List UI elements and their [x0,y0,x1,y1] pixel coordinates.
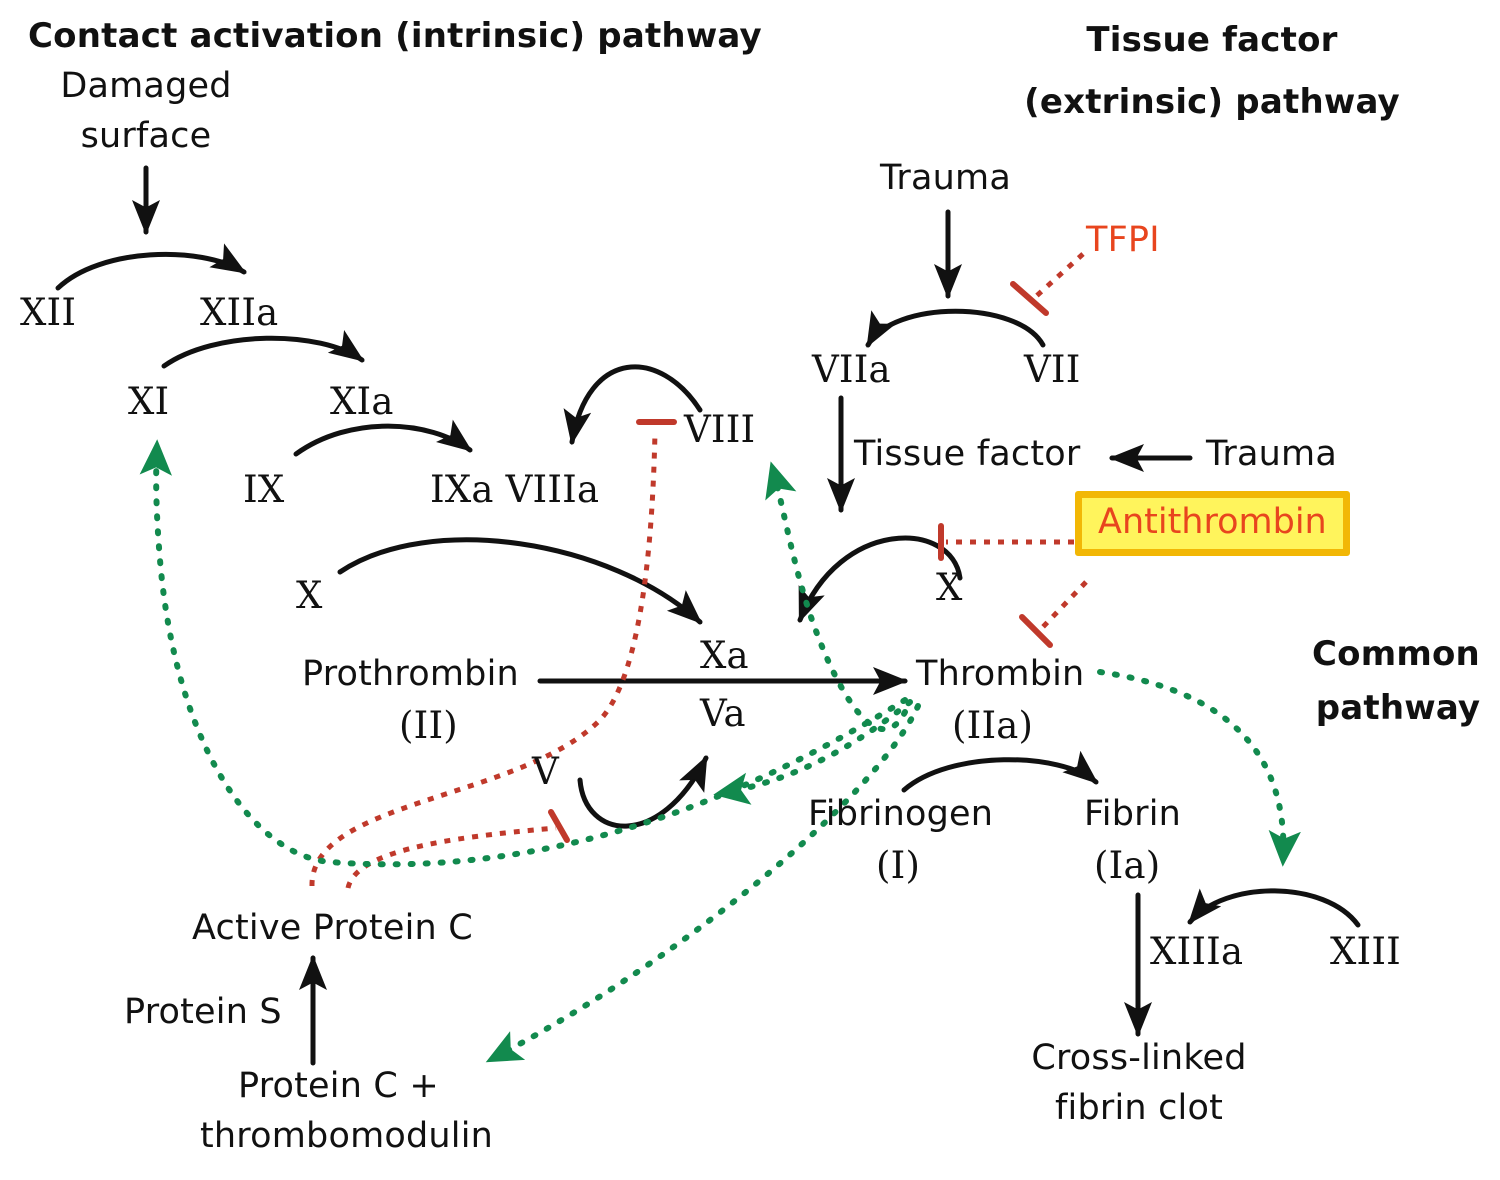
node-fibrinogen: Fibrinogen [808,796,993,834]
node-thrombin: Thrombin [916,656,1084,694]
inhibition-antithrombin-to-thrombin [1041,582,1086,629]
arc-xi-to-xia [164,338,362,366]
node-factor-xiiia: XIIIa [1150,932,1243,972]
node-factor-viia: VIIa [812,350,891,390]
inhibition-apc-to-v [348,828,556,888]
regulator-tfpi-label: TFPI [1086,222,1160,260]
node-factor-ix: IX [243,470,284,510]
node-factor-vii: VII [1024,350,1081,390]
node-factor-ixa-viiia: IXa VIIIa [430,470,599,510]
node-protein-c-line1: Protein C + [238,1068,439,1106]
node-damaged-surface-line2: surface [56,118,236,156]
inhibition-tfpi-to-vii [1032,254,1083,300]
tbar-tfpi [1013,284,1046,313]
node-prothrombin-numeral: (II) [399,706,458,746]
tbar-apc-v [551,812,567,840]
node-trauma-top: Trauma [880,160,1011,198]
arc-vii-to-viia [868,311,1043,345]
node-protein-s: Protein S [124,994,282,1032]
header-common-pathway-line1: Common [1306,636,1486,673]
node-fibrin: Fibrin [1084,796,1181,834]
header-extrinsic-pathway-line1: Tissue factor [1022,22,1402,59]
header-intrinsic-pathway: Contact activation (intrinsic) pathway [28,18,762,55]
arc-xii-to-xiia [58,254,244,288]
arc-xiii-to-xiiia [1190,891,1358,925]
node-trauma-right: Trauma [1206,436,1337,474]
antithrombin-highlight-box[interactable]: Antithrombin [1075,491,1350,556]
node-factor-xia: XIa [330,382,394,422]
node-factor-x-extrinsic: X [936,568,963,608]
node-factor-xiii: XIII [1330,932,1401,972]
node-tissue-factor: Tissue factor [854,436,1080,474]
node-damaged-surface-line1: Damaged [56,68,236,106]
inhibition-arrows-layer [312,254,1086,888]
node-factor-va: Va [700,694,746,734]
node-cross-linked-clot-line2: fibrin clot [1010,1090,1268,1128]
node-factor-xi: XI [128,382,169,422]
regulator-antithrombin-label: Antithrombin [1098,502,1327,542]
node-factor-v: V [532,752,559,792]
header-extrinsic-pathway-line2: (extrinsic) pathway [1000,84,1424,121]
node-factor-xii: XII [20,293,76,333]
node-protein-c-line2: thrombomodulin [200,1118,493,1156]
node-fibrinogen-numeral: (I) [876,846,920,886]
arc-ix-to-ixa [296,426,470,454]
node-fibrin-numeral: (Ia) [1094,846,1160,886]
arc-fibrinogen-to-fibrin [904,760,1096,790]
node-cross-linked-clot-line1: Cross-linked [1010,1040,1268,1078]
node-thrombin-numeral: (IIa) [952,706,1033,746]
node-active-protein-c: Active Protein C [192,910,473,948]
node-factor-xa: Xa [700,636,749,676]
node-prothrombin: Prothrombin [302,656,519,694]
header-common-pathway-line2: pathway [1300,690,1496,727]
arc-viii-to-viiia [572,367,700,442]
node-factor-viii: VIII [684,410,755,450]
node-factor-x-intrinsic: X [296,576,323,616]
coagulation-cascade-diagram: Contact activation (intrinsic) pathway T… [0,0,1500,1180]
node-factor-xiia: XIIa [200,293,278,333]
arc-v-to-va [580,758,706,826]
